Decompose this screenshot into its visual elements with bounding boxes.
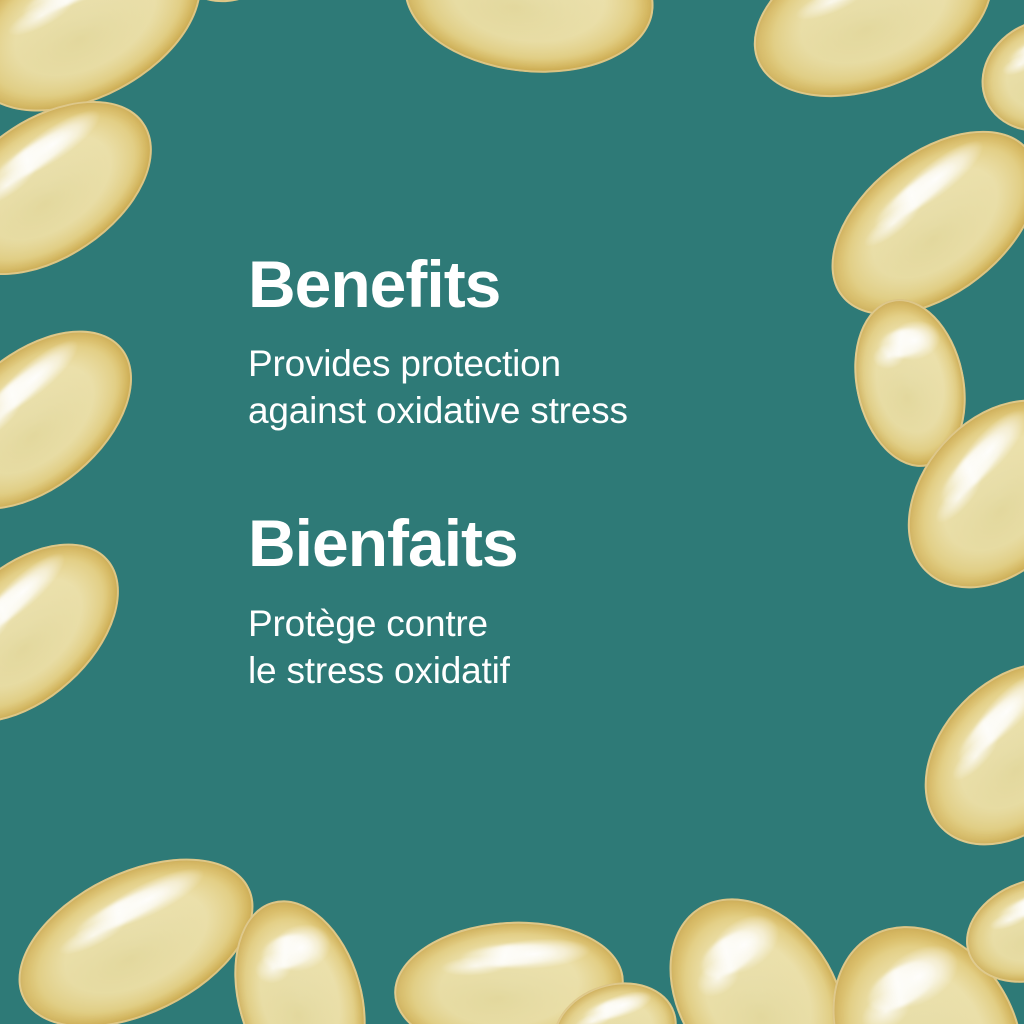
benefits-text-block: Benefits Provides protection against oxi… xyxy=(248,250,808,695)
benefits-group-english: Benefits Provides protection against oxi… xyxy=(248,250,808,435)
capsule-highlight xyxy=(693,922,767,987)
capsule-highlight xyxy=(869,155,962,234)
softgel-capsule xyxy=(397,0,661,85)
benefits-line2-english: against oxidative stress xyxy=(248,388,808,435)
capsule-highlight xyxy=(259,929,318,974)
softgel-capsule xyxy=(0,295,165,544)
benefits-heading-english: Benefits xyxy=(248,250,808,319)
capsule-highlight xyxy=(0,568,47,646)
benefits-line1-french: Protège contre xyxy=(248,601,808,648)
capsule-highlight xyxy=(1007,31,1024,69)
product-benefits-card: Benefits Provides protection against oxi… xyxy=(0,0,1024,1024)
capsule-highlight xyxy=(878,325,928,361)
softgel-capsule xyxy=(0,509,152,757)
benefits-line1-english: Provides protection xyxy=(248,341,808,388)
capsule-highlight xyxy=(997,889,1024,924)
softgel-capsule xyxy=(729,0,1016,129)
capsule-highlight xyxy=(0,122,78,195)
capsule-highlight xyxy=(0,355,59,433)
capsule-highlight xyxy=(934,426,1012,509)
softgel-capsule xyxy=(889,627,1024,881)
capsule-highlight xyxy=(18,0,122,25)
capsule-highlight xyxy=(861,952,943,1021)
benefits-heading-french: Bienfaits xyxy=(248,509,808,578)
capsule-highlight xyxy=(460,942,558,969)
benefits-line2-french: le stress oxidatif xyxy=(248,648,808,695)
capsule-highlight xyxy=(71,878,176,945)
capsule-highlight xyxy=(809,0,915,11)
capsule-highlight xyxy=(582,994,637,1024)
benefits-group-french: Bienfaits Protège contre le stress oxida… xyxy=(248,509,808,694)
capsule-highlight xyxy=(952,688,1024,768)
